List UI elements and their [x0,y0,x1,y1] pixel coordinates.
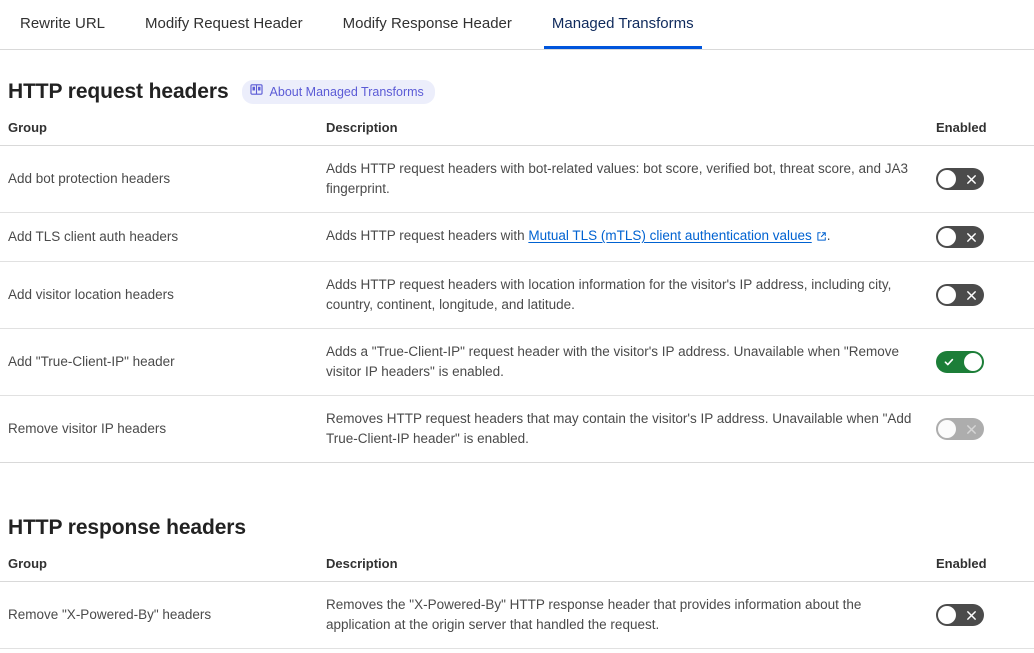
toggle-knob [964,353,982,371]
toggle-add-tls-client-auth-headers[interactable] [936,226,984,248]
http-request-headers-section: HTTP request headers About Managed Trans… [0,79,1034,463]
row-group-label: Add "True-Client-IP" header [0,329,318,396]
column-header-group: Group [0,119,318,146]
check-icon [936,351,962,373]
response-section-header: HTTP response headers [0,515,1034,541]
row-group-label: Add TLS client auth headers [0,213,318,262]
page-title-response: HTTP response headers [8,515,246,541]
row-enabled-cell [928,146,1034,213]
row-group-label: Add bot protection headers [0,146,318,213]
row-enabled-cell [928,396,1034,463]
tab-rewrite-url[interactable]: Rewrite URL [0,0,125,49]
row-enabled-cell [928,582,1034,649]
toggle-knob [938,286,956,304]
request-headers-table: Group Description Enabled Add bot protec… [0,119,1034,463]
row-description: Adds HTTP request headers with location … [318,262,928,329]
row-group-label: Remove visitor IP headers [0,396,318,463]
toggle-knob [938,170,956,188]
tab-modify-request-header[interactable]: Modify Request Header [125,0,323,49]
toggle-knob [938,420,956,438]
section-spacer [0,463,1034,486]
toggle-knob [938,228,956,246]
toggle-knob [938,606,956,624]
row-description: Adds a "True-Client-IP" request header w… [318,329,928,396]
table-row: Add TLS client auth headers Adds HTTP re… [0,213,1034,262]
book-icon [250,83,263,101]
row-description-text-after: . [827,228,831,243]
table-row: Add visitor location headers Adds HTTP r… [0,262,1034,329]
close-icon [958,418,984,440]
http-response-headers-section: HTTP response headers Group Description … [0,515,1034,653]
table-header-row: Group Description Enabled [0,119,1034,146]
row-description: Removes the "X-Powered-By" HTTP response… [318,582,928,649]
mtls-documentation-link[interactable]: Mutual TLS (mTLS) client authentication … [528,228,811,243]
row-description: Removes HTTP request headers that may co… [318,396,928,463]
row-enabled-cell [928,329,1034,396]
response-headers-table: Group Description Enabled Remove "X-Powe… [0,555,1034,653]
row-description: Adds HTTP request headers with Mutual TL… [318,213,928,262]
external-link-icon [816,228,827,248]
close-icon [958,284,984,306]
table-row: Remove "X-Powered-By" headers Removes th… [0,582,1034,649]
tab-bar: Rewrite URL Modify Request Header Modify… [0,0,1034,50]
page-title-request: HTTP request headers [8,79,229,105]
row-description: Adds several security-related HTTP respo… [318,649,928,653]
toggle-remove-x-powered-by-headers[interactable] [936,604,984,626]
close-icon [958,168,984,190]
toggle-add-visitor-location-headers[interactable] [936,284,984,306]
about-badge-label: About Managed Transforms [270,84,424,100]
row-description: Adds HTTP request headers with bot-relat… [318,146,928,213]
about-managed-transforms-badge[interactable]: About Managed Transforms [242,80,435,104]
column-header-description: Description [318,555,928,582]
table-row: Add bot protection headers Adds HTTP req… [0,146,1034,213]
table-row: Add security headers Adds several securi… [0,649,1034,653]
toggle-add-true-client-ip-header[interactable] [936,351,984,373]
column-header-enabled: Enabled [928,555,1034,582]
row-enabled-cell [928,213,1034,262]
column-header-enabled: Enabled [928,119,1034,146]
toggle-add-bot-protection-headers[interactable] [936,168,984,190]
request-section-header: HTTP request headers About Managed Trans… [0,79,1034,105]
row-enabled-cell [928,649,1034,653]
column-header-group: Group [0,555,318,582]
table-row: Add "True-Client-IP" header Adds a "True… [0,329,1034,396]
row-group-label: Remove "X-Powered-By" headers [0,582,318,649]
table-header-row: Group Description Enabled [0,555,1034,582]
row-group-label: Add visitor location headers [0,262,318,329]
close-icon [958,604,984,626]
toggle-remove-visitor-ip-headers [936,418,984,440]
column-header-description: Description [318,119,928,146]
table-row: Remove visitor IP headers Removes HTTP r… [0,396,1034,463]
tab-modify-response-header[interactable]: Modify Response Header [323,0,532,49]
tab-managed-transforms[interactable]: Managed Transforms [532,0,714,49]
close-icon [958,226,984,248]
row-description-text-before: Adds HTTP request headers with [326,228,528,243]
row-enabled-cell [928,262,1034,329]
row-group-label: Add security headers [0,649,318,653]
